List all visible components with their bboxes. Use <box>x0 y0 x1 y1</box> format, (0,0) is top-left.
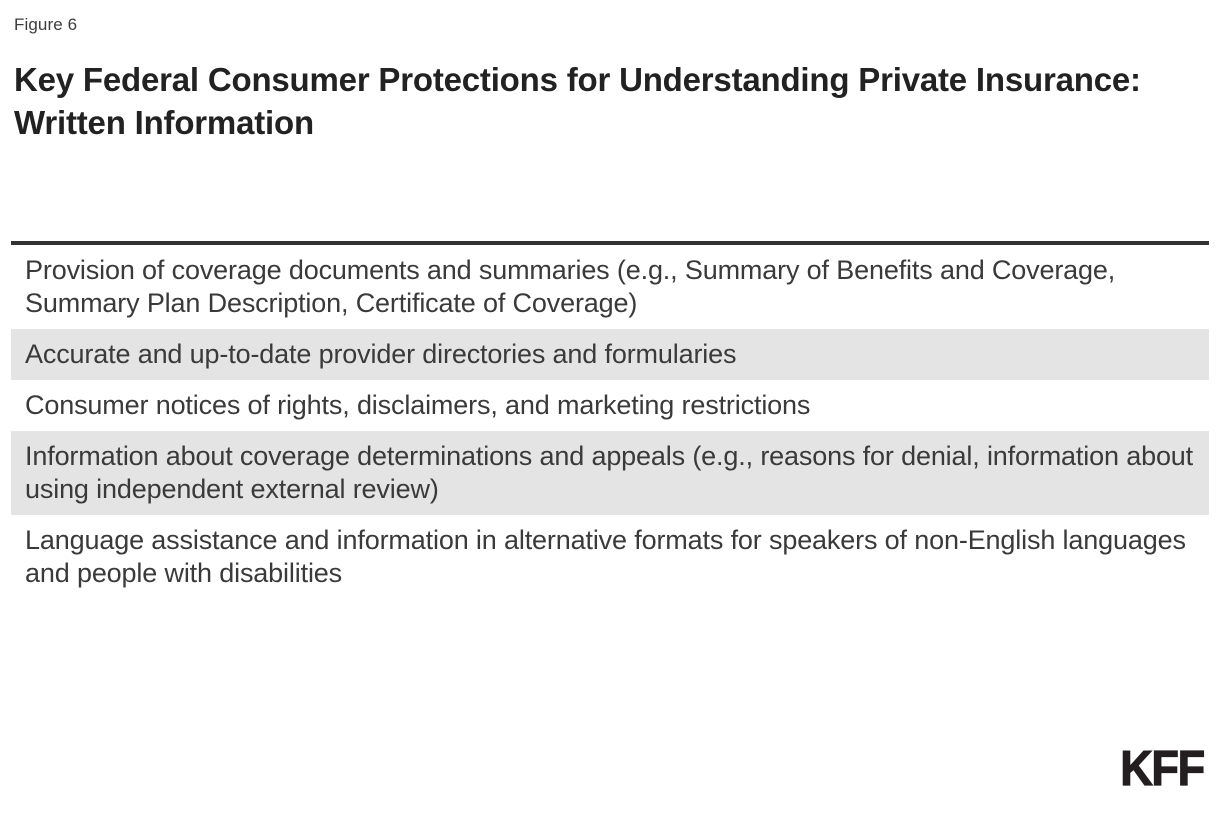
figure-card: Figure 6 Key Federal Consumer Protection… <box>0 0 1220 816</box>
protections-table: Provision of coverage documents and summ… <box>11 241 1209 599</box>
table-row: Provision of coverage documents and summ… <box>11 245 1209 329</box>
table-row: Consumer notices of rights, disclaimers,… <box>11 380 1209 431</box>
table-row: Information about coverage determination… <box>11 431 1209 515</box>
table-row: Language assistance and information in a… <box>11 515 1209 599</box>
kff-logo: KFF <box>1121 745 1204 794</box>
figure-header: Figure 6 Key Federal Consumer Protection… <box>0 0 1220 144</box>
table-row: Accurate and up-to-date provider directo… <box>11 329 1209 380</box>
table-row-list: Provision of coverage documents and summ… <box>11 245 1209 599</box>
figure-label: Figure 6 <box>14 14 1208 36</box>
page-title: Key Federal Consumer Protections for Und… <box>14 58 1204 144</box>
